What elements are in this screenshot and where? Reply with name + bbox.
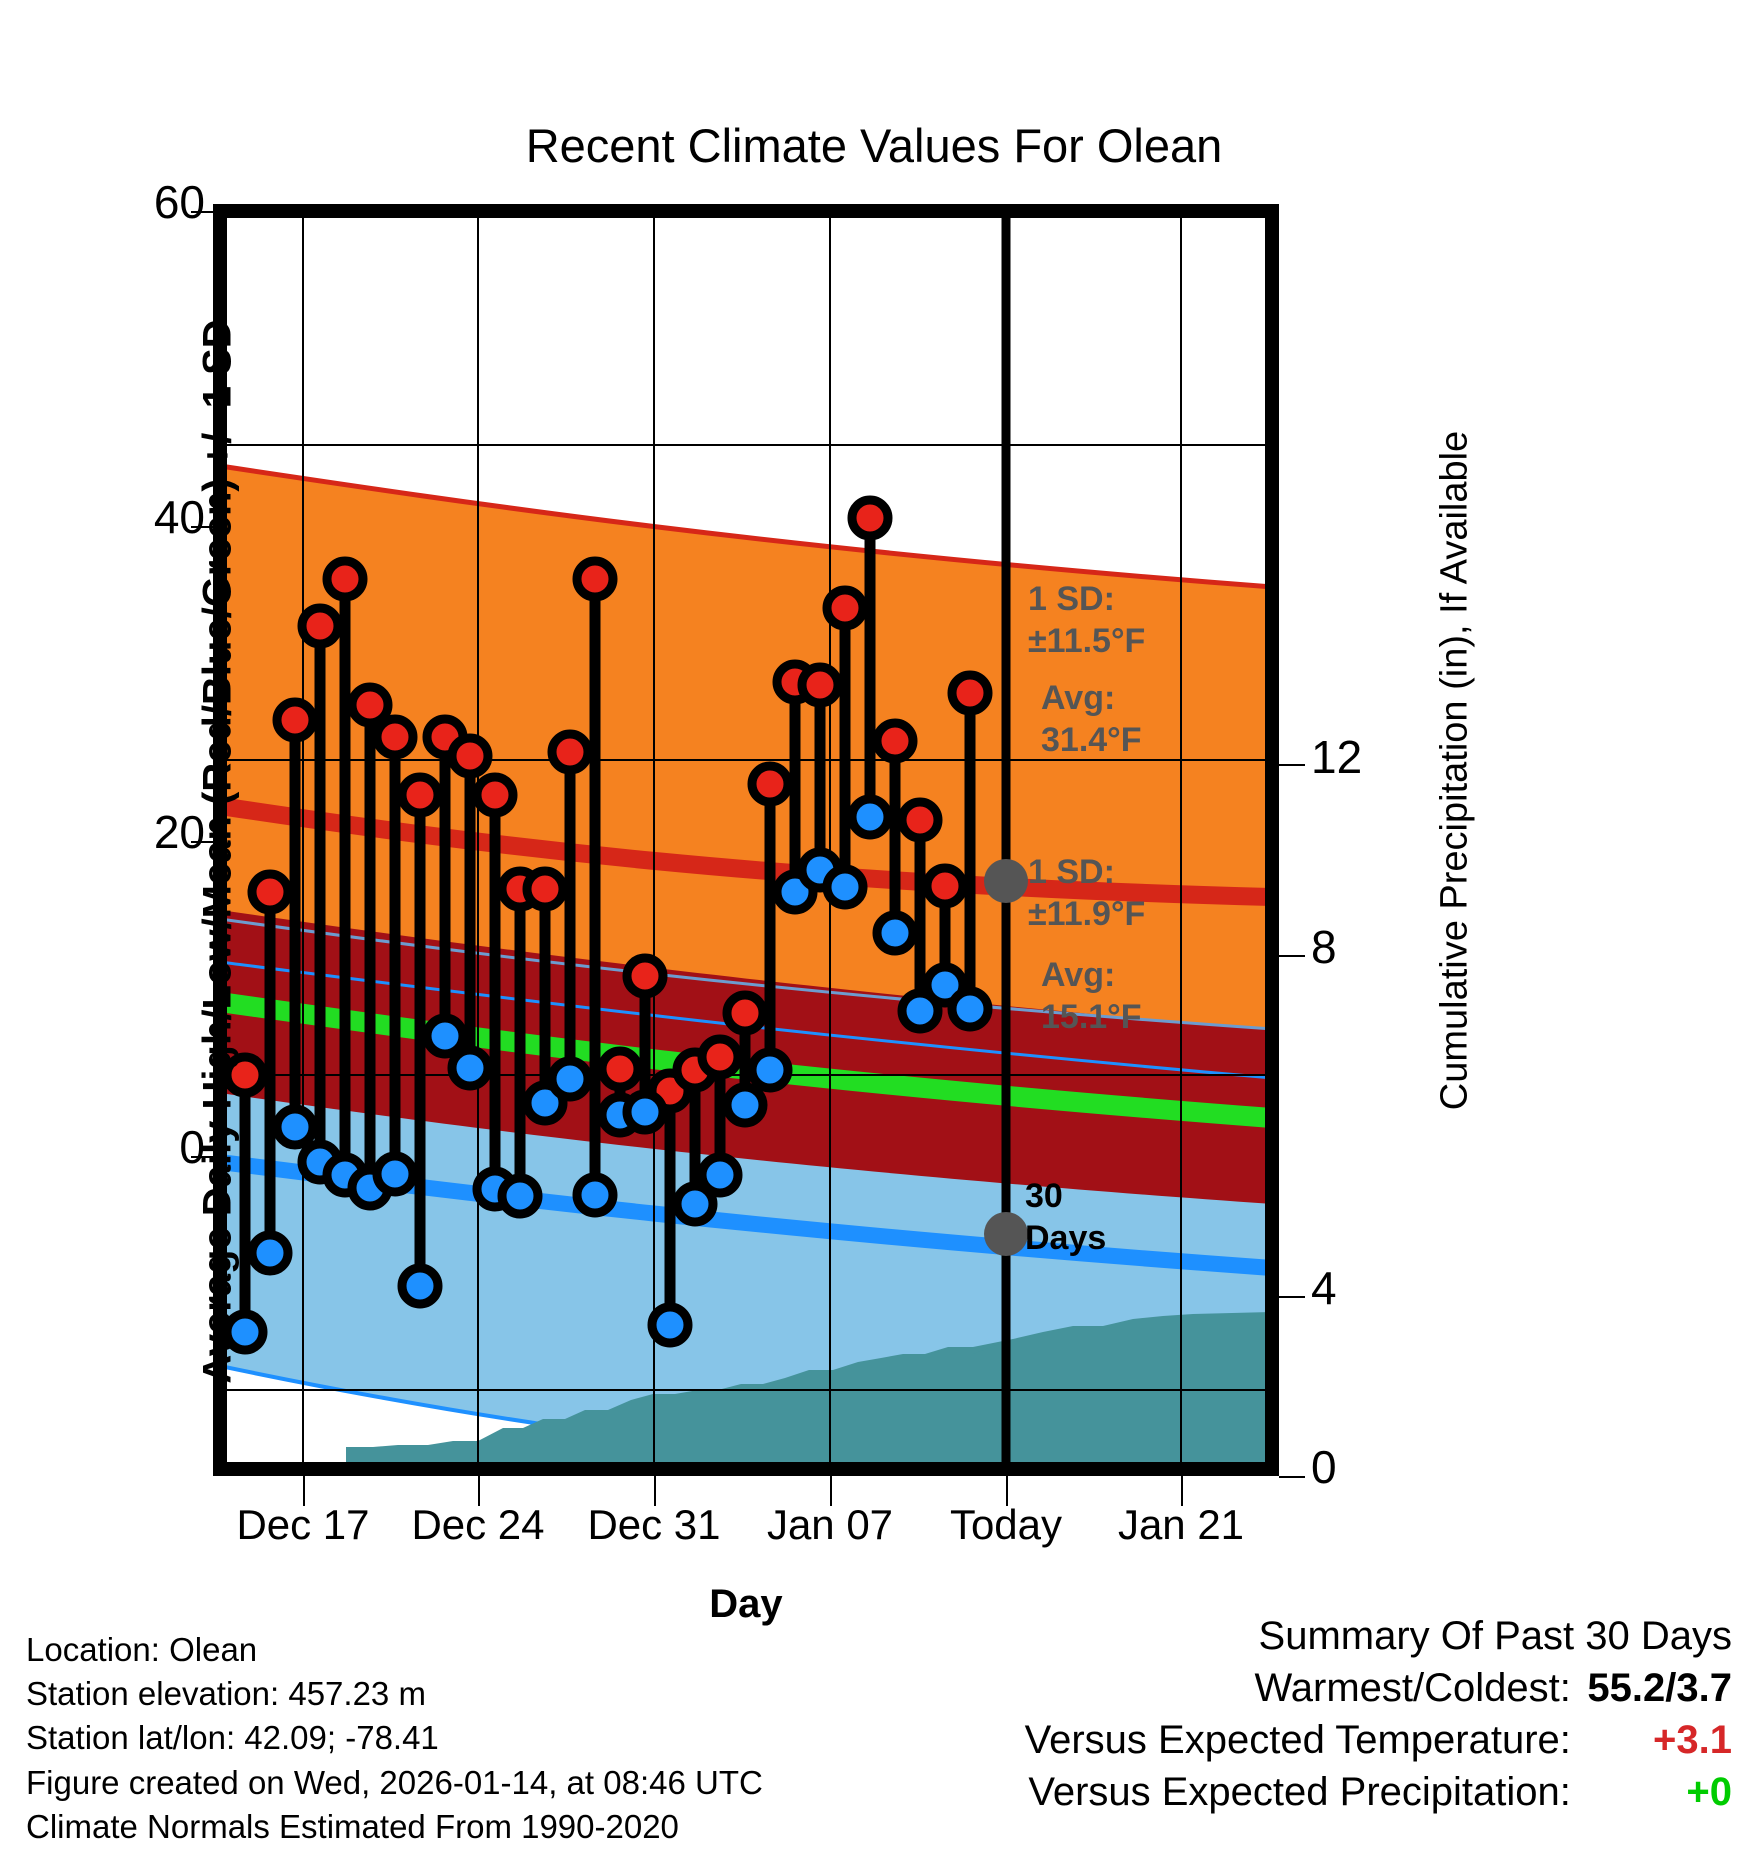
- y-tickmark-right-0: [1279, 1476, 1305, 1478]
- y-tickmark-left-0: [191, 1156, 213, 1158]
- high-sd-label: 1 SD:: [1028, 582, 1115, 618]
- high-avg-label: Avg:: [1041, 681, 1115, 717]
- summary-row-warmest-coldest: Warmest/Coldest: 55.2/3.7: [1025, 1662, 1732, 1714]
- summary-block: Summary Of Past 30 Days Warmest/Coldest:…: [1025, 1610, 1732, 1818]
- climate-plot-svg: [213, 204, 1279, 1476]
- info-created: Figure created on Wed, 2026-01-14, at 08…: [26, 1761, 763, 1805]
- info-location: Location: Olean: [26, 1628, 763, 1672]
- y-axis-right-title: Cumulative Precipitation (in), If Availa…: [1434, 271, 1477, 1271]
- y-tickmark-right-8: [1279, 955, 1305, 957]
- summary-row-vs-temp: Versus Expected Temperature: +3.1: [1025, 1714, 1732, 1766]
- summary-row-vs-precip: Versus Expected Precipitation: +0: [1025, 1766, 1732, 1818]
- high-sd-value: ±11.5°F: [1028, 624, 1145, 660]
- today-days-count: 30: [1025, 1179, 1063, 1215]
- station-info-block: Location: Olean Station elevation: 457.2…: [26, 1628, 763, 1849]
- y-tick-right-8: 8: [1311, 924, 1337, 970]
- high-avg-value: 31.4°F: [1041, 723, 1142, 759]
- y-tick-left-20: 20: [55, 809, 205, 855]
- y-tickmark-left-60: [191, 211, 213, 213]
- summary-label-vs-temp: Versus Expected Temperature:: [1025, 1718, 1571, 1762]
- chart-title: Recent Climate Values For Olean: [0, 118, 1748, 173]
- y-tickmark-left-40: [191, 526, 213, 528]
- y-tickmark-left-20: [191, 841, 213, 843]
- today-days-word: Days: [1025, 1221, 1106, 1257]
- today-low-avg-marker: [984, 1212, 1028, 1256]
- summary-label-vs-precip: Versus Expected Precipitation:: [1028, 1770, 1571, 1814]
- low-sd-label: 1 SD:: [1028, 855, 1115, 891]
- x-tick-jan21: Jan 21: [1051, 1504, 1311, 1546]
- summary-value-vs-temp: +3.1: [1582, 1714, 1732, 1766]
- low-avg-value: 15.1°F: [1041, 1000, 1142, 1036]
- summary-value-vs-precip: +0: [1582, 1766, 1732, 1818]
- today-high-avg-marker: [984, 859, 1028, 903]
- summary-value-warmest-coldest: 55.2/3.7: [1582, 1662, 1732, 1714]
- summary-label-warmest-coldest: Warmest/Coldest:: [1255, 1666, 1571, 1710]
- y-tickmark-right-4: [1279, 1296, 1305, 1298]
- info-latlon: Station lat/lon: 42.09; -78.41: [26, 1716, 763, 1760]
- y-tick-left-0: 0: [55, 1124, 205, 1170]
- y-tick-left-60: 60: [55, 179, 205, 225]
- plot-area: Average Daily High/Low/Mean (Red/Blue/Gr…: [213, 204, 1279, 1476]
- low-avg-label: Avg:: [1041, 958, 1115, 994]
- y-tick-right-0: 0: [1311, 1444, 1337, 1490]
- y-tick-right-12: 12: [1311, 734, 1362, 780]
- info-elevation: Station elevation: 457.23 m: [26, 1672, 763, 1716]
- y-tickmark-right-12: [1279, 764, 1305, 766]
- y-tick-left-40: 40: [55, 494, 205, 540]
- low-sd-value: ±11.9°F: [1028, 897, 1145, 933]
- summary-heading: Summary Of Past 30 Days: [1025, 1610, 1732, 1662]
- y-tick-right-4: 4: [1311, 1265, 1337, 1311]
- info-normals: Climate Normals Estimated From 1990-2020: [26, 1805, 763, 1849]
